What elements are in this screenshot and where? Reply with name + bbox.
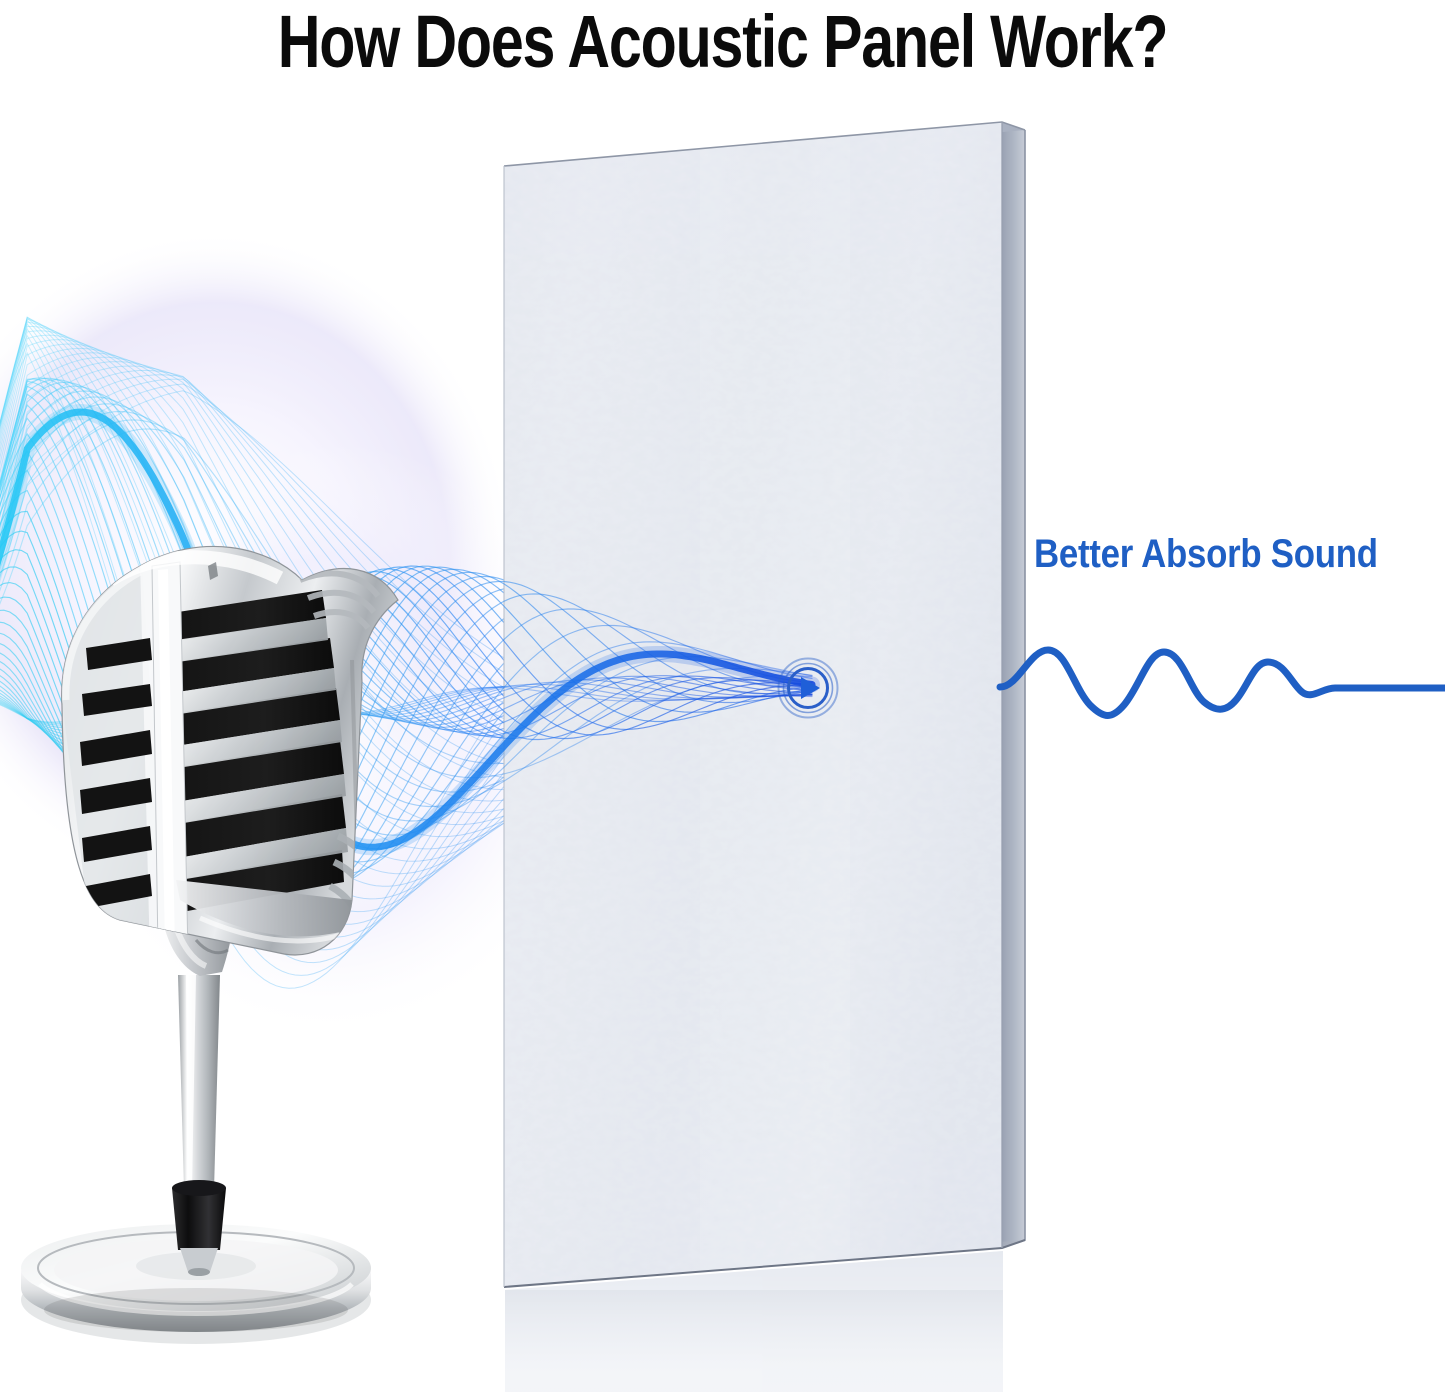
panel-reflection	[500, 1248, 1010, 1392]
acoustic-panel	[0, 0, 1445, 1392]
mic-stand-shaft	[172, 975, 226, 1276]
incoming-sound-wave	[0, 0, 1445, 1392]
panel-front-face	[490, 110, 1035, 1300]
panel-bottom-edge	[504, 1240, 1025, 1287]
background-glow	[0, 0, 1445, 1392]
play-icon[interactable]	[0, 0, 1445, 1392]
mic-stand-base	[21, 1224, 371, 1344]
page-title: How Does Acoustic Panel Work?	[145, 2, 1301, 82]
outgoing-sound-wave	[0, 0, 1445, 1392]
illustration-canvas: How Does Acoustic Panel Work? Better Abs…	[0, 0, 1445, 1392]
panel-side-face	[1002, 122, 1025, 1248]
mic-head	[62, 546, 398, 960]
better-absorb-sound-label: Better Absorb Sound	[1034, 531, 1378, 577]
mic-neck	[160, 898, 234, 976]
sound-wave-front-bundle	[0, 0, 1445, 1392]
microphone	[0, 0, 1445, 1392]
panel-top-edge	[504, 122, 1025, 174]
